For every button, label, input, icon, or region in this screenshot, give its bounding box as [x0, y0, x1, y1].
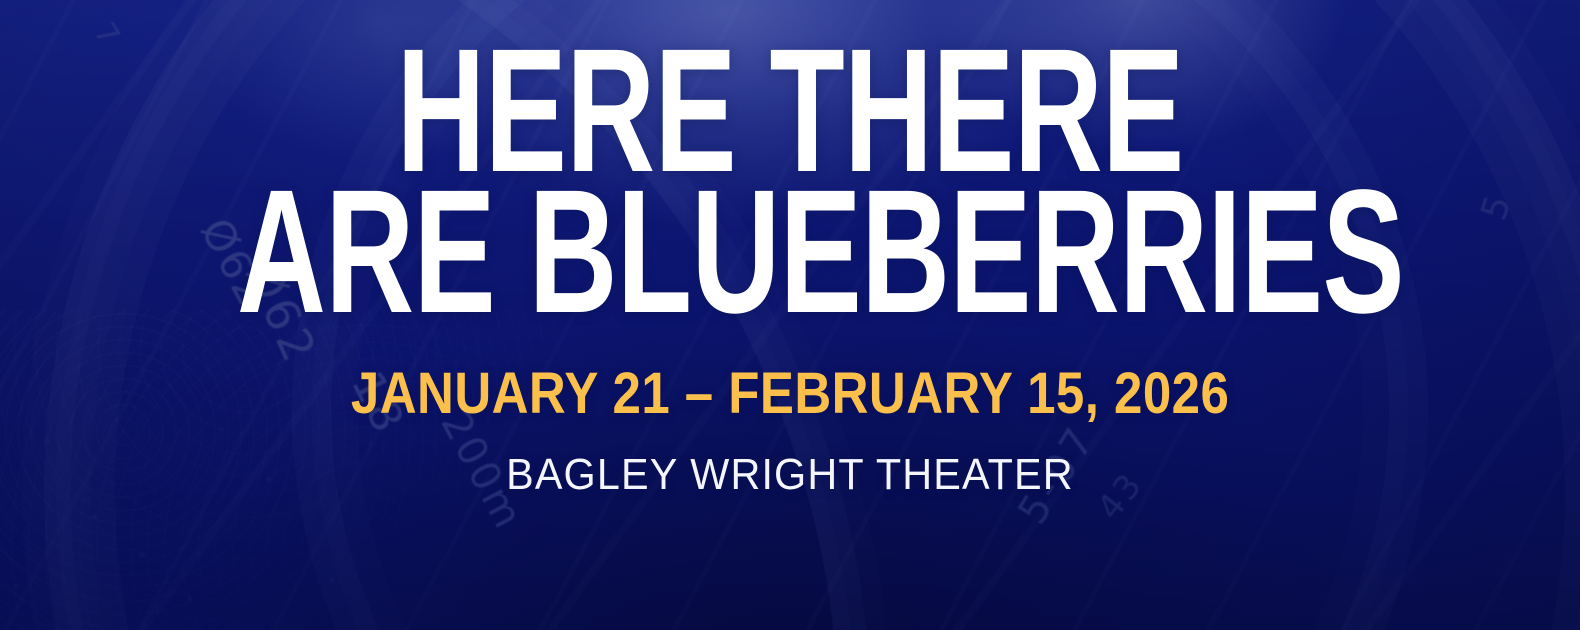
production-title-line-2: ARE BLUEBERRIES — [237, 177, 1343, 328]
venue-name: BAGLEY WRIGHT THEATER — [506, 453, 1074, 497]
production-title: HERE THERE ARE BLUEBERRIES — [0, 0, 1580, 329]
production-hero-banner: Ø62 Ø62 18 200m 5-07 43 5 7 HERE THERE A… — [0, 0, 1580, 630]
run-dates: JANUARY 21 – FEBRUARY 15, 2026 — [351, 365, 1229, 423]
banner-content: HERE THERE ARE BLUEBERRIES JANUARY 21 – … — [0, 0, 1580, 630]
